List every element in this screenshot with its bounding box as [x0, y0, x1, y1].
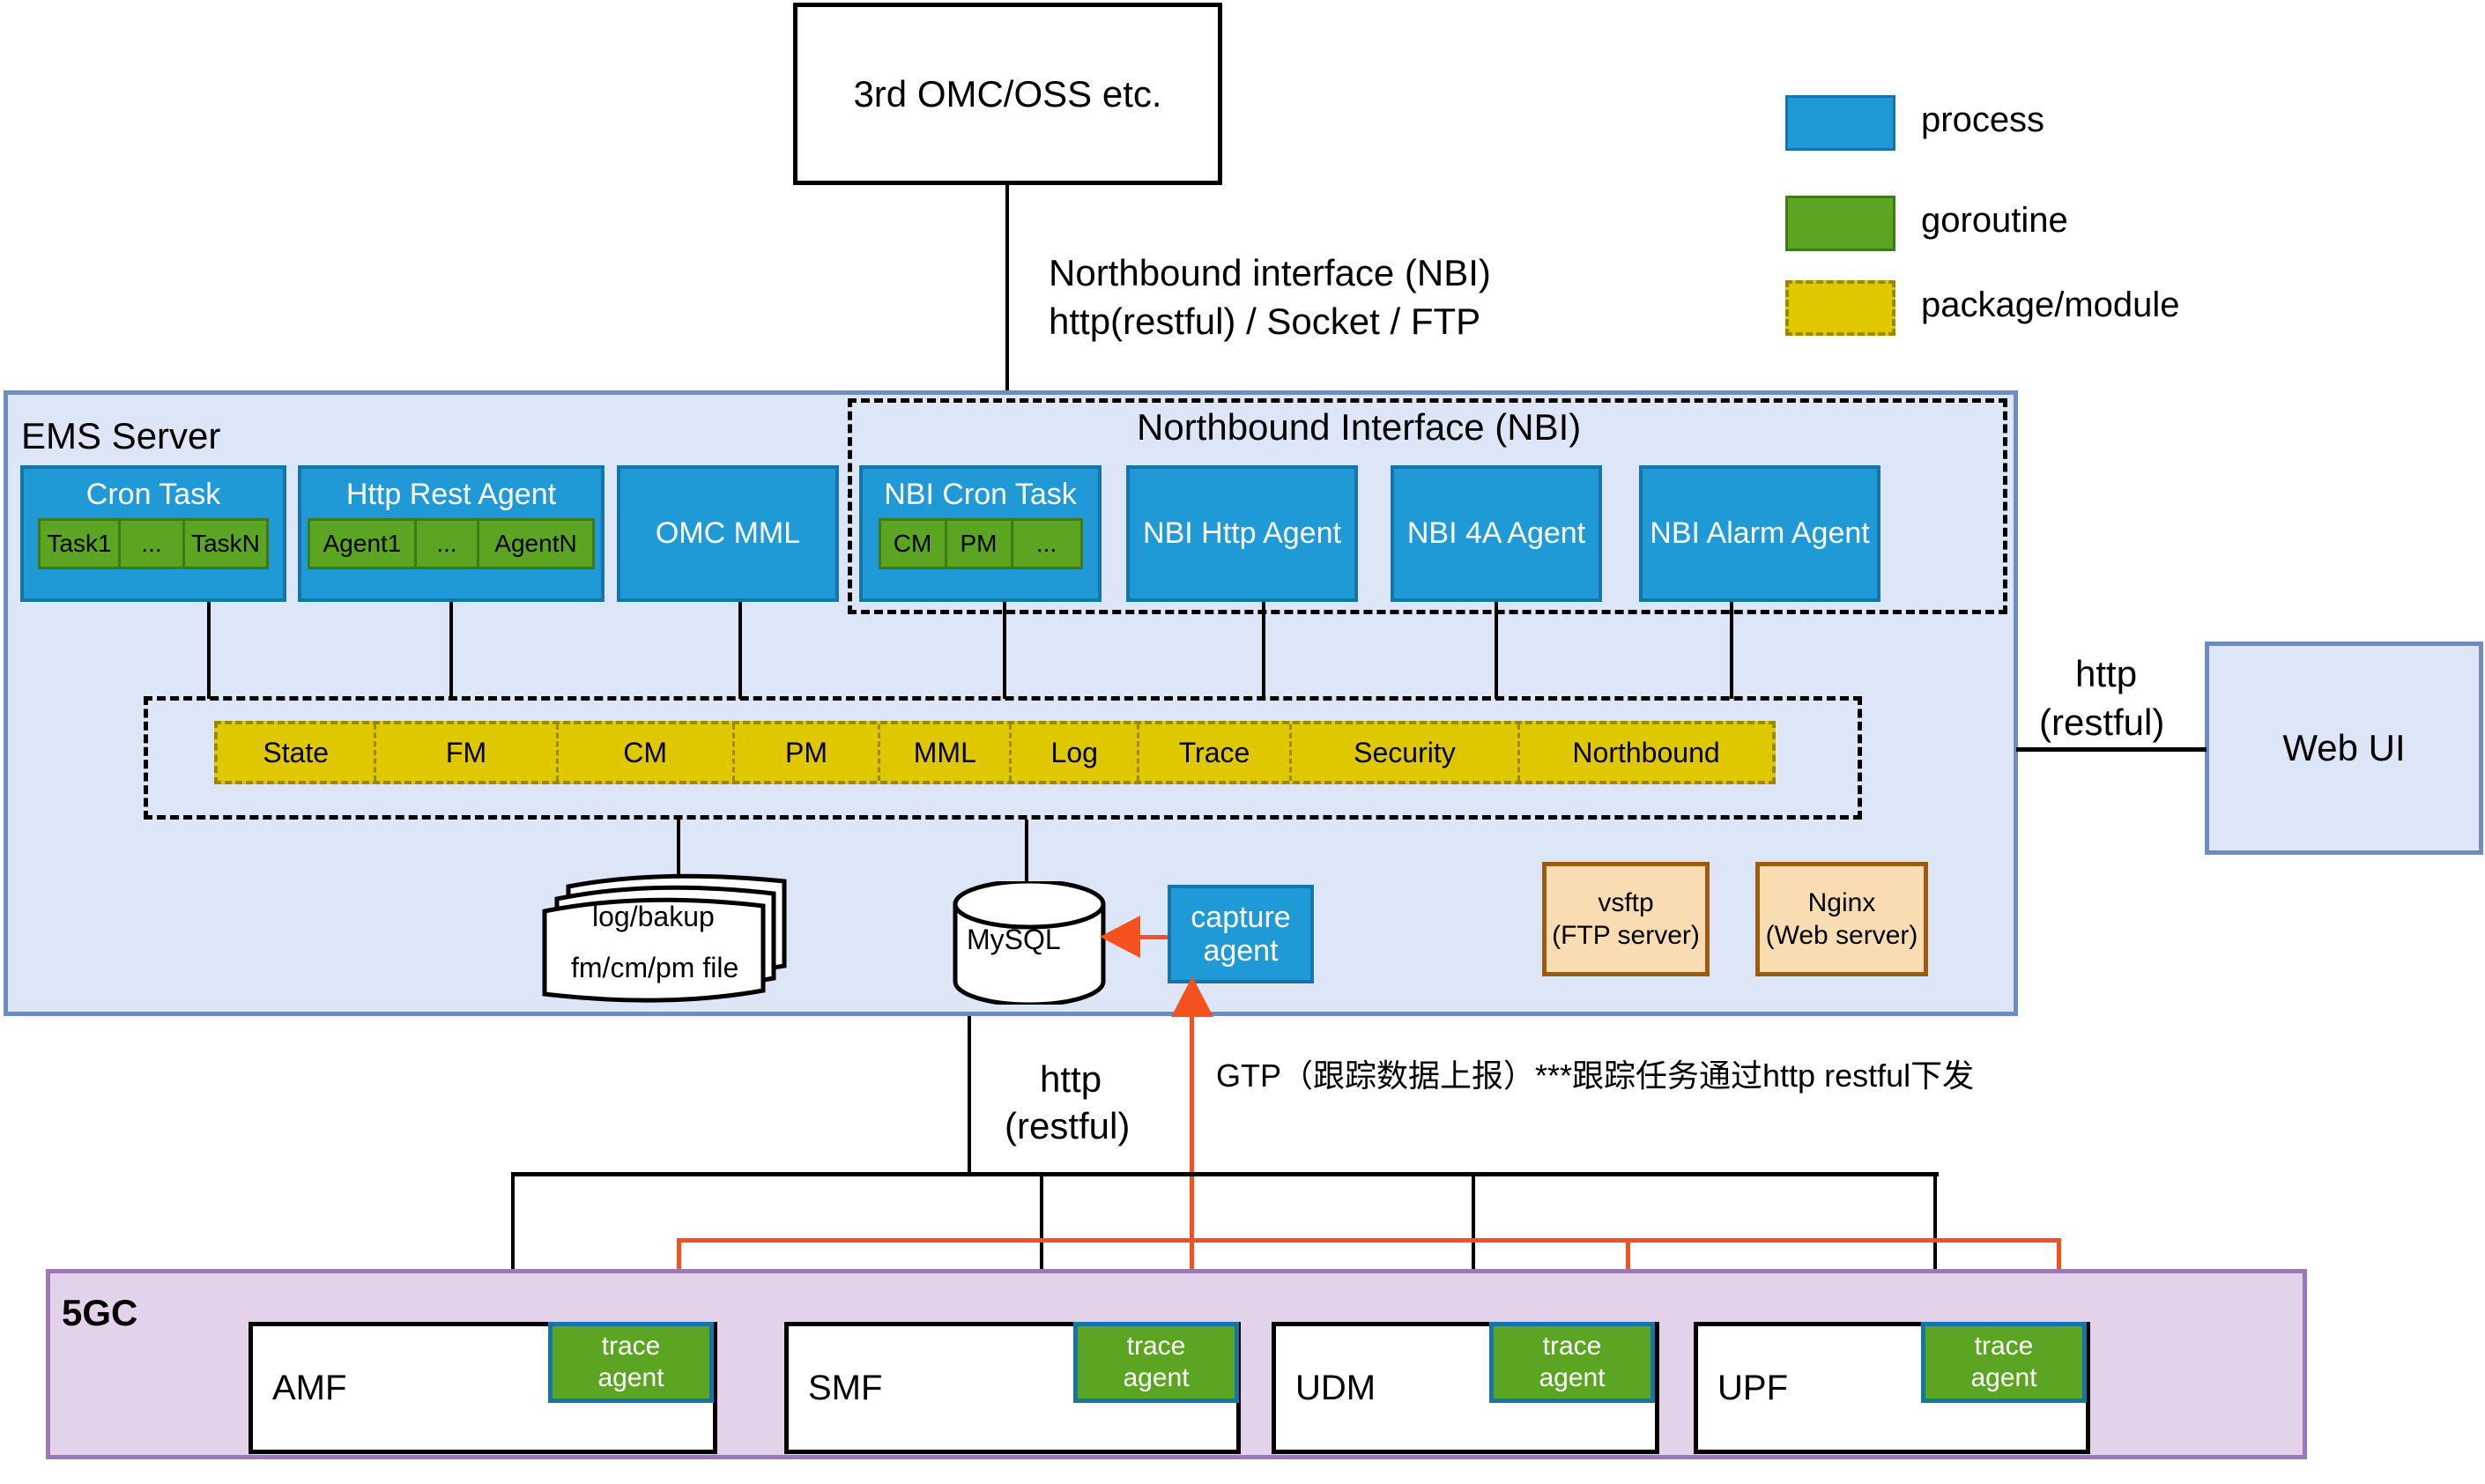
process-nbi-4a-agent[interactable]: NBI 4A Agent — [1391, 465, 1602, 602]
trace-agent-smf-line1: trace — [1127, 1331, 1186, 1362]
process-capture-agent-title-line2: agent — [1203, 934, 1278, 968]
trace-agent-udm[interactable]: trace agent — [1489, 1322, 1655, 1403]
goroutine-cm[interactable]: CM — [879, 518, 947, 569]
gtp-uplink-arrowhead — [1169, 976, 1215, 1017]
mysql-label: MySQL — [967, 924, 1061, 957]
five-gc-title: 5GC — [62, 1291, 137, 1335]
goroutine-row-http-rest-agent: Agent1 ... AgentN — [308, 518, 595, 569]
process-nbi-alarm-agent[interactable]: NBI Alarm Agent — [1639, 465, 1880, 602]
module-northbound[interactable]: Northbound — [1520, 724, 1772, 781]
legend-label-goroutine: goroutine — [1921, 200, 2068, 241]
module-security[interactable]: Security — [1292, 724, 1520, 781]
third-party-omc-label: 3rd OMC/OSS etc. — [853, 73, 1161, 115]
nginx-server-box: Nginx (Web server) — [1755, 862, 1928, 976]
trace-agent-amf-line2: agent — [597, 1362, 664, 1394]
nbi-link-label-line1: Northbound interface (NBI) — [1049, 251, 1491, 295]
process-capture-agent-title-line1: capture — [1191, 901, 1290, 934]
web-ui-label: Web UI — [2282, 727, 2405, 769]
nginx-label-line2: (Web server) — [1766, 919, 1918, 953]
nbi-connector-line — [1005, 185, 1009, 394]
module-fm[interactable]: FM — [376, 724, 558, 781]
process-nbi-4a-agent-title: NBI 4A Agent — [1407, 516, 1585, 550]
gtp-uplink-line — [1190, 1005, 1194, 1297]
module-log[interactable]: Log — [1012, 724, 1139, 781]
web-ui-link-label-line2: (restful) — [2039, 701, 2164, 745]
module-bar: State FM CM PM MML Log Trace Security No… — [214, 721, 1776, 784]
south-http-label-line2: (restful) — [1005, 1104, 1130, 1148]
goroutine-task-ellipsis[interactable]: ... — [121, 518, 185, 569]
process-capture-agent[interactable]: capture agent — [1168, 885, 1314, 983]
black-bus-extension — [1665, 1172, 1939, 1176]
connector-ems-to-web-ui — [2016, 747, 2207, 752]
connector-nbi-cron-task-to-modules — [1003, 602, 1006, 699]
file-store-label-line1: log/bakup — [592, 901, 715, 934]
trace-agent-upf[interactable]: trace agent — [1921, 1322, 2087, 1403]
process-nbi-alarm-agent-title: NBI Alarm Agent — [1650, 516, 1869, 550]
capture-to-mysql-arrowhead — [1100, 914, 1140, 960]
nbi-link-label-line2: http(restful) / Socket / FTP — [1049, 300, 1480, 344]
goroutine-row-nbi-cron-task: CM PM ... — [879, 518, 1083, 569]
legend-label-package: package/module — [1921, 285, 2180, 326]
connector-cron-task-to-modules — [207, 602, 211, 699]
goroutine-pm[interactable]: PM — [947, 518, 1013, 569]
nf-label-smf: SMF — [789, 1369, 882, 1408]
trace-agent-amf[interactable]: trace agent — [548, 1322, 714, 1403]
module-mml[interactable]: MML — [880, 724, 1012, 781]
legend-swatch-package — [1785, 280, 1895, 336]
vsftp-server-box: vsftp (FTP server) — [1542, 862, 1710, 976]
web-ui-box[interactable]: Web UI — [2205, 642, 2483, 855]
gtp-note-label: GTP（跟踪数据上报）***跟踪任务通过http restful下发 — [1216, 1057, 1974, 1094]
third-party-omc-box: 3rd OMC/OSS etc. — [793, 3, 1222, 185]
process-http-rest-agent[interactable]: Http Rest Agent Agent1 ... AgentN — [298, 465, 605, 602]
connector-ems-to-5gc-trunk — [968, 1016, 971, 1173]
goroutine-agent-ellipsis[interactable]: ... — [417, 518, 479, 569]
goroutine-agentn[interactable]: AgentN — [479, 518, 595, 569]
south-http-label-line1: http — [1040, 1057, 1102, 1102]
process-nbi-cron-task[interactable]: NBI Cron Task CM PM ... — [859, 465, 1102, 602]
module-trace[interactable]: Trace — [1139, 724, 1292, 781]
process-nbi-cron-task-title: NBI Cron Task — [884, 478, 1077, 511]
web-ui-link-label-line1: http — [2075, 652, 2137, 696]
file-store-label-line2: fm/cm/pm file — [571, 952, 738, 985]
legend-swatch-process — [1785, 95, 1895, 151]
trace-agent-udm-line2: agent — [1539, 1362, 1605, 1394]
vsftp-label-line2: (FTP server) — [1552, 919, 1700, 953]
ems-server-title: EMS Server — [21, 414, 220, 458]
diagram-canvas: 3rd OMC/OSS etc. Northbound interface (N… — [0, 0, 2485, 1484]
nf-label-udm: UDM — [1276, 1369, 1376, 1408]
connector-modules-to-mysql — [1025, 820, 1028, 881]
orange-bus-horizontal — [677, 1238, 2060, 1243]
connector-omc-mml-to-modules — [738, 602, 742, 699]
process-http-rest-agent-title: Http Rest Agent — [346, 478, 556, 511]
connector-nbi-alarm-agent-to-modules — [1730, 602, 1733, 699]
process-nbi-http-agent-title: NBI Http Agent — [1143, 516, 1341, 550]
trace-agent-upf-line2: agent — [1970, 1362, 2036, 1394]
connector-http-rest-agent-to-modules — [449, 602, 453, 699]
nbi-group-title: Northbound Interface (NBI) — [1137, 405, 1581, 449]
process-omc-mml-title: OMC MML — [656, 516, 800, 550]
legend-swatch-goroutine — [1785, 196, 1895, 251]
nginx-label-line1: Nginx — [1808, 887, 1876, 920]
process-cron-task-title: Cron Task — [86, 478, 220, 511]
connector-nbi-4a-agent-to-modules — [1495, 602, 1498, 699]
nf-label-amf: AMF — [253, 1369, 346, 1408]
goroutine-taskn[interactable]: TaskN — [185, 518, 269, 569]
vsftp-label-line1: vsftp — [1598, 887, 1653, 920]
goroutine-task1[interactable]: Task1 — [38, 518, 121, 569]
trace-agent-smf-line2: agent — [1123, 1362, 1189, 1394]
trace-agent-amf-line1: trace — [602, 1331, 661, 1362]
process-omc-mml[interactable]: OMC MML — [617, 465, 839, 602]
goroutine-nbi-ellipsis[interactable]: ... — [1013, 518, 1083, 569]
nf-label-upf: UPF — [1698, 1369, 1788, 1408]
process-cron-task[interactable]: Cron Task Task1 ... TaskN — [20, 465, 286, 602]
module-cm[interactable]: CM — [559, 724, 735, 781]
connector-nbi-http-agent-to-modules — [1262, 602, 1265, 699]
black-bus-horizontal — [511, 1172, 1674, 1176]
trace-agent-upf-line1: trace — [1975, 1331, 2034, 1362]
module-pm[interactable]: PM — [735, 724, 881, 781]
trace-agent-udm-line1: trace — [1543, 1331, 1602, 1362]
goroutine-agent1[interactable]: Agent1 — [308, 518, 417, 569]
module-state[interactable]: State — [218, 724, 376, 781]
goroutine-row-cron-task: Task1 ... TaskN — [38, 518, 269, 569]
trace-agent-smf[interactable]: trace agent — [1073, 1322, 1239, 1403]
process-nbi-http-agent[interactable]: NBI Http Agent — [1126, 465, 1358, 602]
legend-label-process: process — [1921, 100, 2044, 141]
